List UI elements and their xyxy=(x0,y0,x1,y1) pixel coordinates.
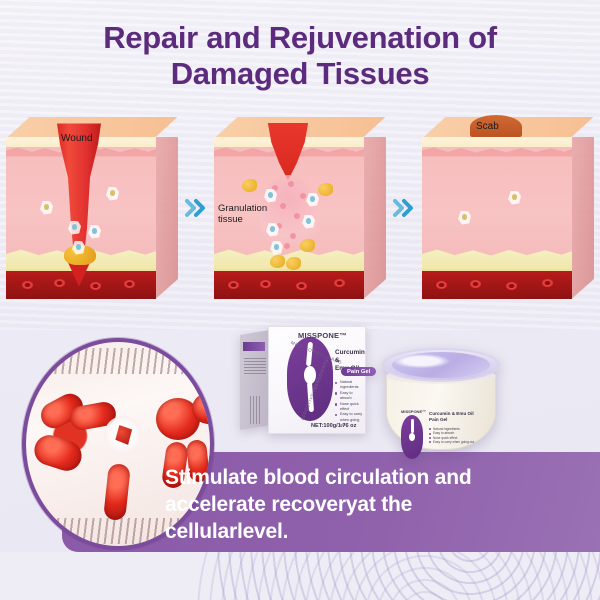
jar-gel-contents xyxy=(392,352,490,378)
fibrin-strands xyxy=(22,348,214,374)
granulation-cell xyxy=(300,193,306,199)
granulation-cell xyxy=(294,213,300,219)
list-item: Easy to carry when going out xyxy=(429,440,474,444)
red-blood-cell-icon xyxy=(436,281,447,289)
fat-cell-icon xyxy=(318,183,333,196)
list-item: Easy to absorb xyxy=(335,391,365,402)
carton-net-weight: NET:100g/1.76 oz xyxy=(311,423,356,429)
skin-block-side-face xyxy=(572,137,594,299)
blood-vessel-layer xyxy=(422,269,572,299)
red-blood-cell-icon xyxy=(90,282,101,290)
jar-brand-name: MISSPONE™ xyxy=(401,409,426,414)
fat-cell-icon xyxy=(270,255,285,268)
carton-side-panel xyxy=(240,330,270,430)
stage-arrow-1 xyxy=(183,195,209,221)
red-blood-cell-icon xyxy=(260,280,271,288)
red-blood-cell-icon xyxy=(54,279,65,287)
red-blood-cell-icon xyxy=(22,281,33,289)
red-blood-cell-icon xyxy=(124,280,135,288)
granulation-cell xyxy=(280,203,286,209)
callout-text: Stimulate blood circulation and accelera… xyxy=(165,464,515,545)
knee-joint-icon xyxy=(401,415,423,459)
granulation-cell xyxy=(284,243,290,249)
stage-panel-granulation: Granulation tissue xyxy=(214,117,386,299)
platelet-cell xyxy=(104,416,142,454)
stage-label-granulation: Granulation tissue xyxy=(218,203,267,225)
red-blood-cell-icon xyxy=(506,282,517,290)
red-blood-cell-icon xyxy=(228,281,239,289)
stage-arrow-2 xyxy=(391,195,417,221)
carton-side-vertical-text xyxy=(248,396,262,424)
dermis-layer xyxy=(422,147,572,257)
carton-brand-name: MISSPONE™ xyxy=(298,331,347,340)
skin-block-side-face xyxy=(364,137,386,299)
red-blood-cell xyxy=(103,463,131,521)
carton-front-panel: MISSPONE™ MILD FORMULA AND EFFECTIVE ING… xyxy=(268,326,366,434)
product-jar: MISSPONE™ Curcumin & Emu Oil Pain Gel Na… xyxy=(382,348,500,456)
carton-benefit-list: Natural ingredients Easy to absorb Nose … xyxy=(335,380,365,429)
granulation-cell xyxy=(290,233,296,239)
carton-product-badge: Pain Gel xyxy=(341,367,376,376)
stage-label-scab: Scab xyxy=(476,121,499,132)
wound-healing-stages: Wound xyxy=(0,110,600,305)
list-item: Nose quick effect xyxy=(335,402,365,413)
stage-panel-scab: Scab xyxy=(422,117,594,299)
carton-side-brand-bar xyxy=(243,342,265,351)
red-blood-cell-icon xyxy=(470,280,481,288)
bottom-wave-decoration xyxy=(0,552,600,600)
skin-block-side-face xyxy=(156,137,178,299)
granulation-cell xyxy=(288,181,294,187)
red-blood-cell xyxy=(31,431,86,474)
jar-product-name: Curcumin & Emu Oil Pain Gel xyxy=(429,411,474,423)
jar-benefit-list: Natural ingredients Easy to absorb Nose … xyxy=(429,427,474,445)
list-item: Natural ingredients xyxy=(335,380,365,391)
fat-cell-icon xyxy=(300,239,315,252)
page-title-line-2: Damaged Tissues xyxy=(0,56,600,92)
carton-side-text-block xyxy=(244,356,266,374)
red-blood-cell-icon xyxy=(296,282,307,290)
blood-vessel-layer xyxy=(214,269,364,299)
stage-panel-wound: Wound xyxy=(6,117,178,299)
fat-cell-icon xyxy=(286,257,301,270)
red-blood-cell-icon xyxy=(334,279,345,287)
fat-cell-icon xyxy=(242,179,257,192)
red-blood-cell-icon xyxy=(542,279,553,287)
double-chevron-right-icon xyxy=(183,195,209,221)
page-title-line-1: Repair and Rejuvenation of xyxy=(103,20,497,55)
double-chevron-right-icon xyxy=(391,195,417,221)
stage-label-wound: Wound xyxy=(61,133,93,144)
product-carton: MISSPONE™ MILD FORMULA AND EFFECTIVE ING… xyxy=(240,326,366,434)
page-title: Repair and Rejuvenation of Damaged Tissu… xyxy=(0,20,600,92)
